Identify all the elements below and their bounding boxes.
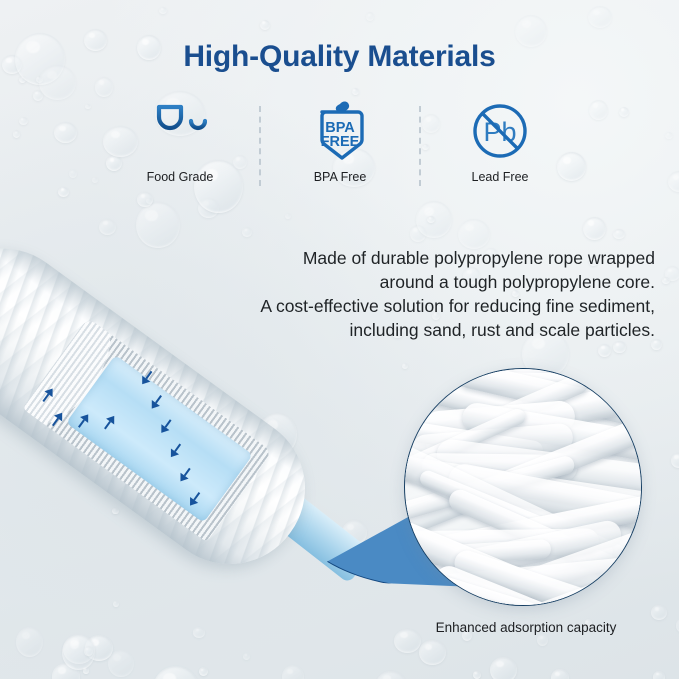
free-text: FREE (321, 134, 360, 150)
badge-label: BPA Free (314, 170, 367, 184)
badge-divider-2 (419, 106, 421, 186)
page-title: High-Quality Materials (0, 40, 679, 74)
badge-bpa-free: BPA FREE BPA Free (280, 100, 400, 184)
badge-label: Lead Free (472, 170, 529, 184)
description-line-4: including sand, rust and scale particles… (175, 318, 655, 342)
description-line-2: around a tough polypropylene core. (175, 270, 655, 294)
badge-lead-free: Pb Lead Free (440, 100, 560, 184)
badge-divider-1 (259, 106, 261, 186)
product-feature-banner: High-Quality Materials (0, 0, 679, 679)
fiber-closeup-magnifier (404, 368, 642, 606)
no-lead-icon: Pb (471, 100, 529, 162)
description-line-3: A cost-effective solution for reducing f… (175, 294, 655, 318)
glass-and-fork-icon (153, 100, 207, 162)
description-line-1: Made of durable polypropylene rope wrapp… (175, 246, 655, 270)
bpa-free-shield-icon: BPA FREE (311, 100, 369, 162)
badge-food-grade: Food Grade (120, 100, 240, 184)
badge-label: Food Grade (147, 170, 214, 184)
magnifier-caption: Enhanced adsorption capacity (396, 620, 656, 635)
description-text: Made of durable polypropylene rope wrapp… (175, 246, 655, 342)
certification-badge-row: Food Grade BPA FREE BPA Free Pb (120, 100, 560, 195)
